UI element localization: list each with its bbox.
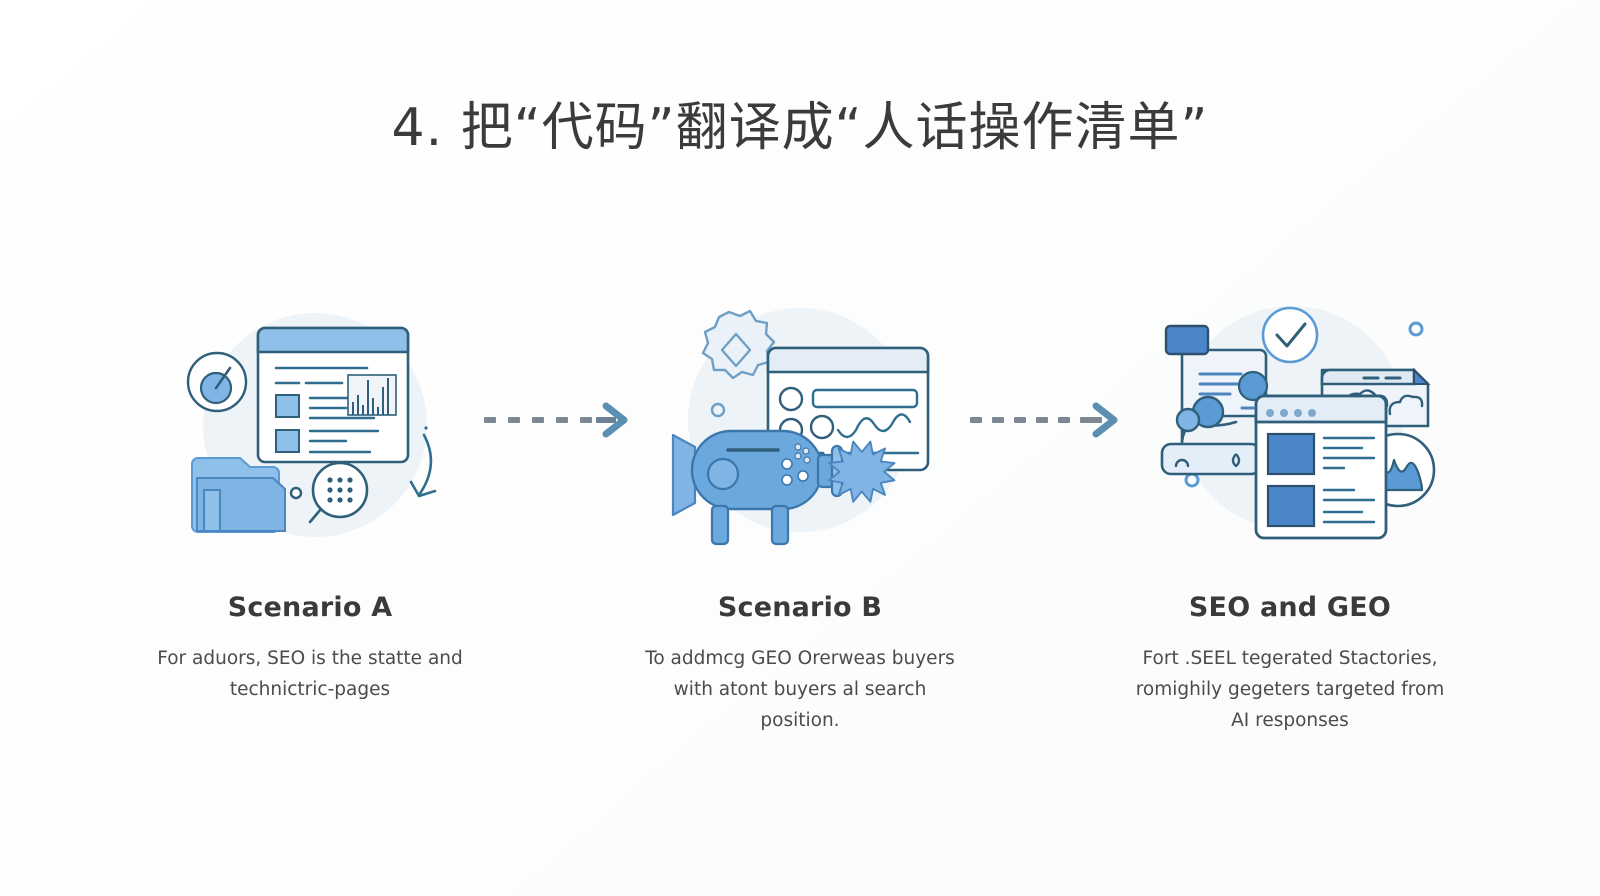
card-description: For aduors, SEO is the statte and techni… — [150, 643, 470, 705]
card-description: To addmcg GEO Orerweas buyers with atont… — [640, 643, 960, 736]
bar-chart-inset — [348, 375, 396, 415]
card-title: Scenario A — [228, 592, 393, 623]
folder-icon — [192, 458, 285, 532]
card-title: SEO and GEO — [1189, 592, 1391, 623]
connector-arrow-2 — [965, 290, 1125, 550]
card-seo-and-geo[interactable]: SEO and GEO Fort .SEEL tegerated Stactor… — [1125, 290, 1455, 736]
connector-arrow-1 — [475, 290, 635, 550]
scenario-row: Scenario A For aduors, SEO is the statte… — [0, 290, 1600, 770]
arrow-dashes — [970, 417, 1102, 423]
card-scenario-b[interactable]: Scenario B To addmcg GEO Orerweas buyers… — [635, 290, 965, 736]
check-circle-icon — [1263, 308, 1317, 362]
illustration-browser-window-analytics — [160, 290, 460, 550]
illustration-verified-content-cloud — [1140, 290, 1440, 550]
card-title: Scenario B — [718, 592, 882, 623]
card-scenario-a[interactable]: Scenario A For aduors, SEO is the statte… — [145, 290, 475, 705]
browser-window — [258, 328, 408, 462]
starburst-icon — [829, 442, 894, 502]
content-browser-window — [1256, 396, 1386, 538]
slide-root: 4. 把“代码”翻译成“人话操作清单” — [0, 0, 1600, 896]
card-description: Fort .SEEL tegerated Stactories, romighi… — [1130, 643, 1450, 736]
page-title: 4. 把“代码”翻译成“人话操作清单” — [0, 96, 1600, 160]
gauge-icon — [188, 353, 246, 411]
arrow-dashes — [484, 417, 592, 423]
illustration-robot-settings-window — [650, 290, 950, 550]
